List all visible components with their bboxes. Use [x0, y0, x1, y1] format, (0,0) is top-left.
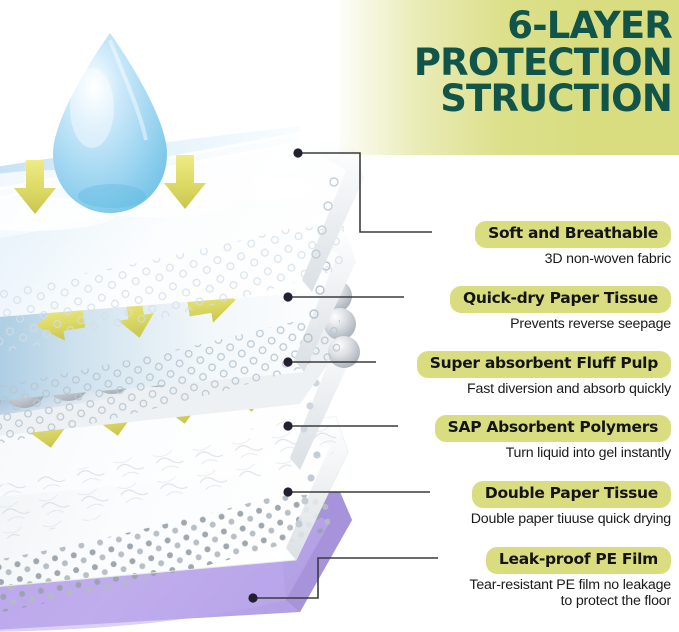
callout-title-3: Super absorbent Fluff Pulp — [417, 351, 671, 378]
callout-title-5: Double Paper Tissue — [472, 481, 671, 508]
page-title: 6-LAYER PROTECTION STRUCTION — [346, 8, 672, 118]
callout-subtitle-2: Prevents reverse seepage — [399, 316, 671, 333]
callout-leak-proof-pe-film: Leak-proof PE Film Tear-resistant PE fil… — [379, 547, 671, 610]
callout-quick-dry-paper-tissue: Quick-dry Paper Tissue Prevents reverse … — [399, 286, 671, 332]
callout-title-4: SAP Absorbent Polymers — [435, 415, 671, 442]
infographic-root: 6-LAYER PROTECTION STRUCTION Soft and Br… — [0, 0, 679, 632]
callout-subtitle-3: Fast diversion and absorb quickly — [371, 381, 671, 398]
callout-title-2: Quick-dry Paper Tissue — [450, 286, 671, 313]
callout-subtitle-4: Turn liquid into gel instantly — [393, 445, 671, 462]
callout-title-6: Leak-proof PE Film — [486, 547, 671, 574]
water-droplet-icon — [53, 33, 167, 213]
callout-subtitle-5: Double paper tiuuse quick drying — [379, 511, 671, 528]
callout-title-1: Soft and Breathable — [475, 221, 671, 248]
callout-soft-and-breathable: Soft and Breathable 3D non-woven fabric — [409, 221, 671, 267]
callout-double-paper-tissue: Double Paper Tissue Double paper tiuuse … — [379, 481, 671, 527]
callout-subtitle-6: Tear-resistant PE film no leakage to pro… — [379, 577, 671, 611]
callout-sap-absorbent-polymers: SAP Absorbent Polymers Turn liquid into … — [393, 415, 671, 461]
callout-subtitle-1: 3D non-woven fabric — [409, 251, 671, 268]
callout-super-absorbent-fluff-pulp: Super absorbent Fluff Pulp Fast diversio… — [371, 351, 671, 397]
